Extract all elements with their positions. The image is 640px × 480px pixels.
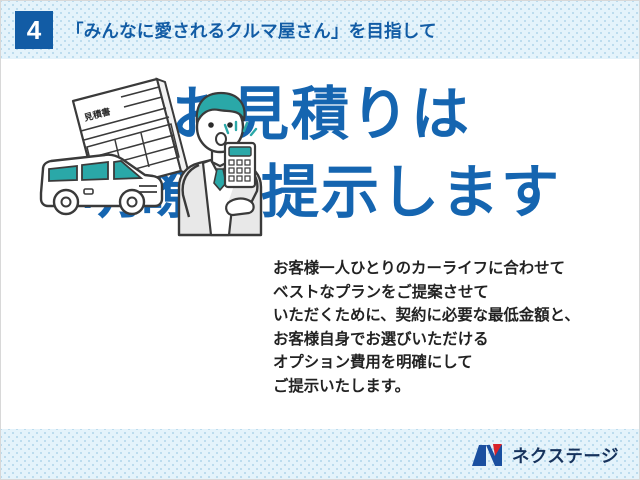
- header-title: 「みんなに愛されるクルマ屋さん」を目指して: [66, 18, 437, 43]
- main-content: お見積りは 明瞭に提示します 見積書: [1, 59, 640, 429]
- body-copy: お客様一人ひとりのカーライフに合わせて ベストなプランをご提案させて いただくた…: [273, 257, 633, 398]
- nextage-logo-text: ネクステージ: [512, 443, 619, 468]
- footer-band: ネクステージ: [1, 429, 640, 480]
- body-copy-line: お客様一人ひとりのカーライフに合わせて: [273, 257, 633, 281]
- advertisement-page: 4 「みんなに愛されるクルマ屋さん」を目指して お見積りは 明瞭に提示します 見…: [0, 0, 640, 480]
- body-copy-line: オプション費用を明確にして: [273, 351, 633, 375]
- body-copy-line: お客様自身でお選びいただける: [273, 328, 633, 352]
- nextage-logo: ネクステージ: [471, 442, 619, 468]
- header-band: 4 「みんなに愛されるクルマ屋さん」を目指して: [1, 1, 640, 59]
- nextage-n-mark-icon: [471, 442, 505, 468]
- body-copy-line: いただくために、契約に必要な最低金額と、: [273, 304, 633, 328]
- body-copy-line: ご提示いたします。: [273, 375, 633, 399]
- illustration: 見積書: [29, 65, 265, 245]
- section-number-badge: 4: [15, 11, 53, 49]
- body-copy-line: ベストなプランをご提案させて: [273, 281, 633, 305]
